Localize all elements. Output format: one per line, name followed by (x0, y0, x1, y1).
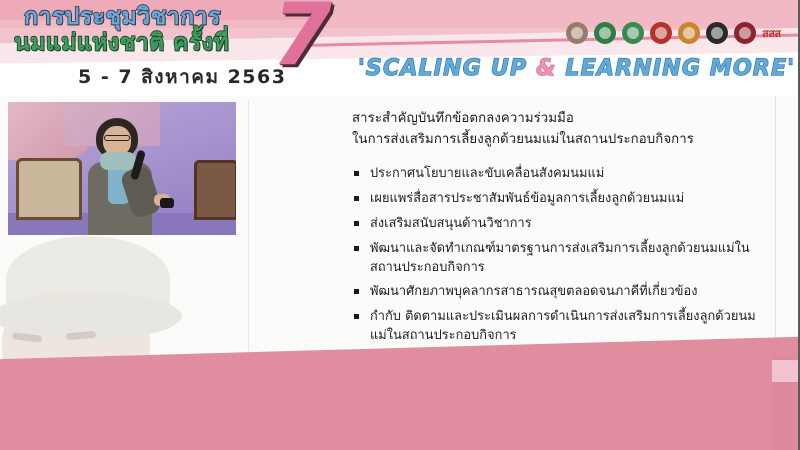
lead-line-1: สาระสำคัญบันทึกข้อตกลงความร่วมมือ (352, 108, 772, 129)
organizer-logos: สสส (566, 22, 781, 44)
bullet-item: พัฒนาศักยภาพบุคลากรสาธารณสุขตลอดจนภาคีที… (352, 283, 772, 302)
logo-green-ring-1 (594, 22, 616, 44)
video-chair-left (16, 158, 82, 220)
remote-clicker-icon (160, 198, 174, 208)
lead-paragraph: สาระสำคัญบันทึกข้อตกลงความร่วมมือ ในการส… (352, 108, 772, 151)
logo-royal-crest (566, 22, 588, 44)
logo-sss-text: สสส (762, 28, 781, 39)
tagline-part-1: 'SCALING UP (358, 56, 536, 81)
edition-number: 7 (272, 0, 330, 78)
logo-thai-garuda (678, 22, 700, 44)
slide-header-banner: 7 การประชุมวิชาการ นมแม่แห่งชาติ ครั้งที… (0, 0, 800, 96)
video-speaker-scarf (100, 152, 136, 170)
bullet-item: เผยแพร่สื่อสารประชาสัมพันธ์ข้อมูลการเลี้… (352, 190, 772, 209)
slide-content: สาระสำคัญบันทึกข้อตกลงความร่วมมือ ในการส… (352, 108, 772, 352)
presentation-slide: 7 การประชุมวิชาการ นมแม่แห่งชาติ ครั้งที… (0, 0, 800, 450)
conference-title-line-1: การประชุมวิชาการ (24, 6, 221, 29)
tagline-ampersand: & (536, 56, 556, 81)
glasses-icon (104, 135, 130, 141)
bottom-right-highlight (772, 360, 800, 382)
bullet-item: พัฒนาและจัดทำเกณฑ์มาตรฐานการส่งเสริมการเ… (352, 240, 772, 278)
bullet-item: ส่งเสริมสนับสนุนด้านวิชาการ (352, 215, 772, 234)
conference-tagline: 'SCALING UP & LEARNING MORE' (358, 56, 795, 81)
logo-maroon-seal (734, 22, 756, 44)
conference-date: 5 - 7 สิงหาคม 2563 (78, 62, 286, 92)
logo-black-seal (706, 22, 728, 44)
logo-red-emblem (650, 22, 672, 44)
video-chair-right (194, 160, 236, 220)
logo-green-ring-2 (622, 22, 644, 44)
bullet-list: ประกาศนโยบายและขับเคลื่อนสังคมนมแม่เผยแพ… (352, 165, 772, 347)
lead-line-2: ในการส่งเสริมการเลี้ยงลูกด้วยนมแม่ในสถาน… (352, 129, 772, 150)
tagline-part-2: LEARNING MORE' (557, 56, 796, 81)
conference-title-line-2: นมแม่แห่งชาติ ครั้งที่ (14, 32, 229, 55)
bullet-item: ประกาศนโยบายและขับเคลื่อนสังคมนมแม่ (352, 165, 772, 184)
speaker-video-thumbnail[interactable] (8, 102, 236, 235)
